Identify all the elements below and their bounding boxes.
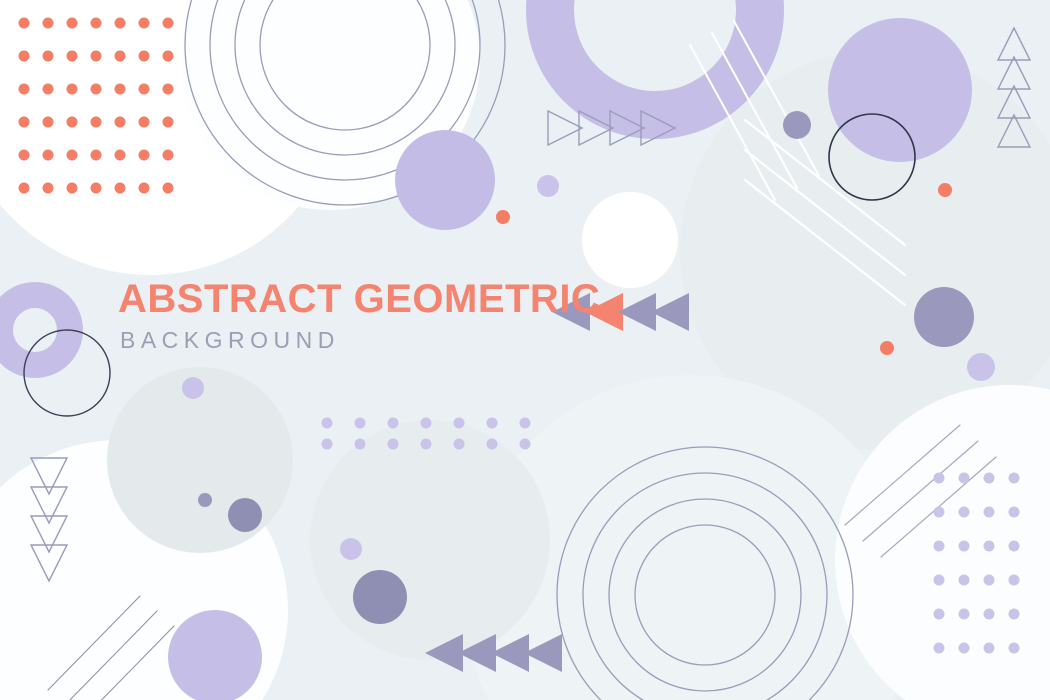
lavender-dot-grid-bottom-right-dot xyxy=(1009,609,1020,620)
lavender-dot-grid-bottom-right-dot xyxy=(959,541,970,552)
coral-dot-grid-top-left-dot xyxy=(91,84,102,95)
coral-dot-grid-top-left-dot xyxy=(67,117,78,128)
coral-dot-grid-top-left-dot xyxy=(163,84,174,95)
lavender-dot-grid-bottom-right-dot xyxy=(984,609,995,620)
lavender-dot-grid-bottom-right-dot xyxy=(1009,473,1020,484)
coral-dot-grid-top-left-dot xyxy=(19,51,30,62)
coral-dot-grid-top-left-dot xyxy=(91,51,102,62)
coral-dot-grid-top-left-dot xyxy=(115,51,126,62)
lavender-dot-grid-bottom-right-dot xyxy=(934,575,945,586)
lavender-dot-grid-center-dot xyxy=(322,439,333,450)
coral-dot-grid-top-left-dot xyxy=(19,117,30,128)
coral-dot-grid-top-left-dot xyxy=(139,117,150,128)
lavender-dot-grid-center-dot xyxy=(421,439,432,450)
coral-dot-grid-top-left-dot xyxy=(139,51,150,62)
lavender-dot-grid-center-dot xyxy=(454,418,465,429)
lavender-dot-grid-bottom-right-dot xyxy=(1009,507,1020,518)
coral-dot-grid-top-left-dot xyxy=(91,183,102,194)
coral-dot-grid-top-left-dot xyxy=(67,183,78,194)
gray-dot-center-left xyxy=(198,493,212,507)
lavender-dot-grid-bottom-right-dot xyxy=(984,507,995,518)
lavender-dot-grid-bottom-right-dot xyxy=(934,643,945,654)
coral-dot-grid-top-left-dot xyxy=(19,18,30,29)
coral-dot-grid-top-left-dot xyxy=(67,51,78,62)
lavender-dot-grid-center-dot xyxy=(520,439,531,450)
coral-dot-grid-top-left-dot xyxy=(67,84,78,95)
coral-dot-grid-top-left-dot xyxy=(115,117,126,128)
violet-circle-right-mid xyxy=(914,287,974,347)
lavender-dot-center-left xyxy=(182,377,204,399)
lavender-dot-grid-center-dot xyxy=(355,439,366,450)
coral-dot-grid-top-left-dot xyxy=(115,84,126,95)
coral-dot-grid-top-left-dot xyxy=(163,150,174,161)
coral-dot-grid-top-left-dot xyxy=(91,150,102,161)
lavender-dot-grid-center-dot xyxy=(355,418,366,429)
lavender-dot-bottom-center xyxy=(340,538,362,560)
coral-dot-grid-top-left-dot xyxy=(163,18,174,29)
coral-dot-grid-top-left-dot xyxy=(139,18,150,29)
coral-dot-grid-top-left-dot xyxy=(43,51,54,62)
coral-dot-top-right xyxy=(938,183,952,197)
lavender-dot-grid-bottom-right-dot xyxy=(959,473,970,484)
background-artwork xyxy=(0,0,1050,700)
white-circle-center xyxy=(582,192,678,288)
lavender-dot-grid-bottom-right-dot xyxy=(984,541,995,552)
violet-circle-top-right-small xyxy=(783,111,811,139)
coral-dot-grid-top-left-dot xyxy=(19,84,30,95)
coral-dot-right-mid xyxy=(880,341,894,355)
lavender-dot-grid-center-dot xyxy=(520,418,531,429)
coral-dot-grid-top-left-dot xyxy=(43,84,54,95)
lavender-dot-grid-center-dot xyxy=(454,439,465,450)
lavender-dot-grid-bottom-right-dot xyxy=(1009,541,1020,552)
coral-dot-grid-top-left-dot xyxy=(67,150,78,161)
violet-circle-center-left xyxy=(228,498,262,532)
lavender-dot-grid-bottom-right-dot xyxy=(959,575,970,586)
lavender-dot-grid-bottom-right-dot xyxy=(934,473,945,484)
lavender-dot-right-mid xyxy=(967,353,995,381)
abstract-geometric-background: ABSTRACT GEOMETRIC BACKGROUND xyxy=(0,0,1050,700)
lavender-dot-grid-center-dot xyxy=(322,418,333,429)
coral-dot-grid-top-left-dot xyxy=(43,18,54,29)
lavender-dot-grid-bottom-right-dot xyxy=(984,643,995,654)
lavender-dot-grid-bottom-right-dot xyxy=(959,609,970,620)
coral-dot-grid-top-left-dot xyxy=(43,150,54,161)
lavender-dot-grid-center-dot xyxy=(388,439,399,450)
lavender-dot-grid-center-dot xyxy=(487,439,498,450)
coral-dot-grid-top-left-dot xyxy=(139,183,150,194)
coral-dot-grid-top-left-dot xyxy=(19,150,30,161)
lavender-dot-grid-bottom-right-dot xyxy=(1009,643,1020,654)
coral-dot-grid-top-left-dot xyxy=(163,117,174,128)
lavender-dot-grid-bottom-right-dot xyxy=(959,507,970,518)
coral-dot-grid-top-left-dot xyxy=(139,84,150,95)
lavender-circle-top-center xyxy=(395,130,495,230)
coral-dot-grid-top-left-dot xyxy=(115,150,126,161)
violet-circle-bottom-center xyxy=(353,570,407,624)
coral-dot-grid-top-left-dot xyxy=(115,183,126,194)
coral-dot-grid-top-left-dot xyxy=(43,117,54,128)
coral-dot-grid-top-left-dot xyxy=(91,117,102,128)
lavender-circle-bottom-left xyxy=(168,610,262,700)
lavender-dot-grid-bottom-right-dot xyxy=(959,643,970,654)
lavender-dot-grid-bottom-right-dot xyxy=(984,473,995,484)
lavender-dot-grid-center-dot xyxy=(421,418,432,429)
lavender-dot-grid-bottom-right-dot xyxy=(1009,575,1020,586)
coral-dot-grid-top-left-dot xyxy=(115,18,126,29)
lavender-dot-grid-center-dot xyxy=(388,418,399,429)
coral-dot-grid-top-left-dot xyxy=(139,150,150,161)
lavender-dot-grid-center-dot xyxy=(487,418,498,429)
lavender-dot-upper-center xyxy=(537,175,559,197)
coral-dot-grid-top-left-dot xyxy=(163,51,174,62)
lavender-dot-grid-bottom-right-dot xyxy=(984,575,995,586)
lavender-dot-grid-bottom-right-dot xyxy=(934,507,945,518)
lavender-circle-top-right xyxy=(828,18,972,162)
coral-dot-grid-top-left-dot xyxy=(163,183,174,194)
coral-dot-grid-top-left-dot xyxy=(43,183,54,194)
coral-dot-grid-top-left-dot xyxy=(19,183,30,194)
coral-dot-upper-center xyxy=(496,210,510,224)
lavender-dot-grid-bottom-right-dot xyxy=(934,609,945,620)
coral-dot-grid-top-left-dot xyxy=(91,18,102,29)
coral-dot-grid-top-left-dot xyxy=(67,18,78,29)
lavender-dot-grid-bottom-right-dot xyxy=(934,541,945,552)
